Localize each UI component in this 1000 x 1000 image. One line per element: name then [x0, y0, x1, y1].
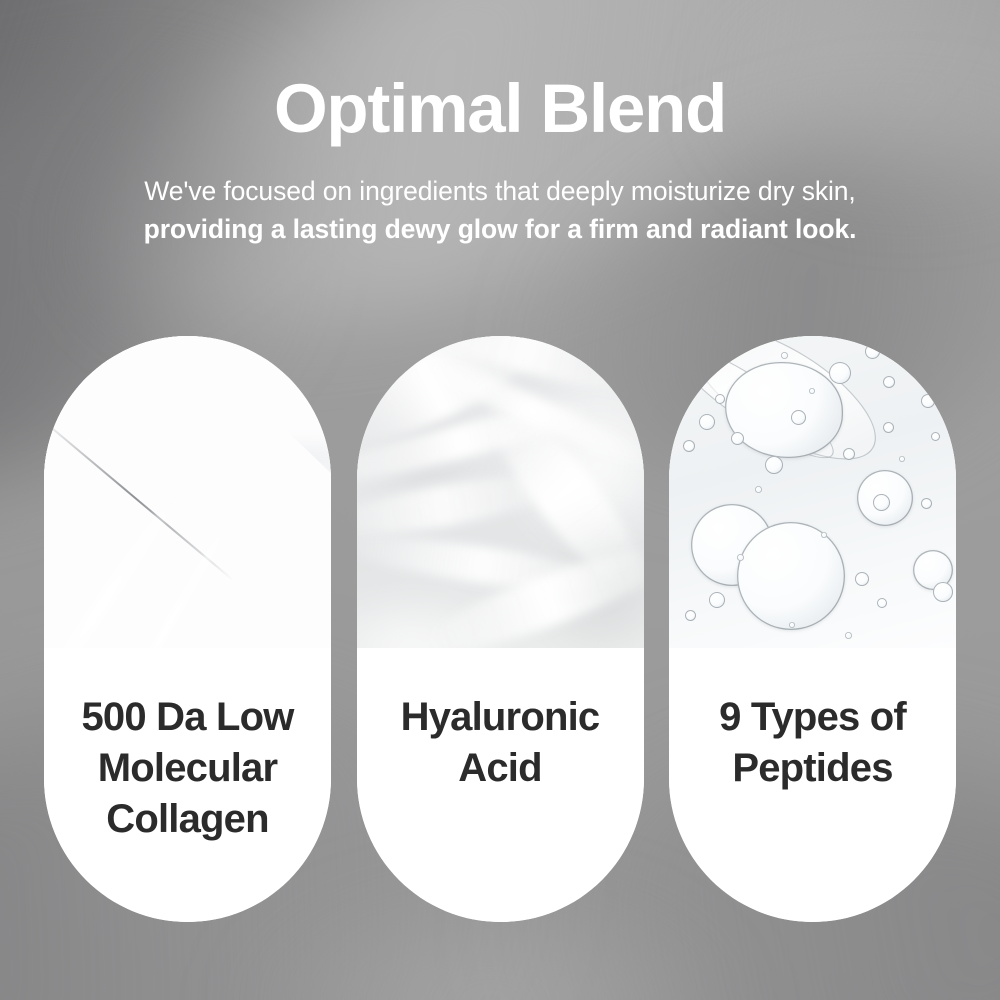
serum-bubble-sm-2 — [865, 344, 880, 359]
serum-bubble-sm-12 — [765, 456, 783, 474]
page-title: Optimal Blend — [0, 0, 1000, 143]
satin-texture — [44, 336, 331, 648]
serum-bubble-sm-14 — [843, 448, 855, 460]
serum-bubble-xs-3 — [755, 486, 762, 493]
serum-bubble-texture — [669, 336, 956, 648]
serum-bubble-sm-20 — [685, 610, 696, 621]
card-label-text: Hyaluronic Acid — [357, 692, 644, 794]
serum-bubble-sm-9 — [683, 440, 695, 452]
serum-bubble-sm-8 — [699, 414, 715, 430]
card-label-hyaluronic-acid: Hyaluronic Acid — [357, 648, 644, 922]
ingredient-card-collagen[interactable]: 500 Da Low Molecular Collagen — [44, 336, 331, 922]
serum-bubble-sm-10 — [715, 394, 725, 404]
water-ripple-texture — [357, 336, 644, 648]
serum-bubble-xs-2 — [809, 388, 815, 394]
serum-bubble-sm-15 — [873, 494, 890, 511]
card-label-text: 500 Da Low Molecular Collagen — [44, 692, 331, 844]
promo-graphic: Optimal Blend We've focused on ingredien… — [0, 0, 1000, 1000]
subtitle-line-2: providing a lasting dewy glow for a firm… — [0, 211, 1000, 249]
card-image-collagen — [44, 336, 331, 648]
serum-bubble-xs-5 — [899, 456, 905, 462]
serum-bubble-xs-6 — [737, 554, 744, 561]
serum-bubble-sm-5 — [921, 394, 935, 408]
subtitle-line-1: We've focused on ingredients that deeply… — [0, 173, 1000, 211]
serum-bubble-xs-1 — [781, 352, 788, 359]
card-label-peptides: 9 Types of Peptides — [669, 648, 956, 922]
card-image-peptides — [669, 336, 956, 648]
subtitle: We've focused on ingredients that deeply… — [0, 143, 1000, 248]
ingredient-card-list: 500 Da Low Molecular Collagen — [44, 336, 956, 922]
header-block: Optimal Blend We've focused on ingredien… — [0, 0, 1000, 248]
ingredient-card-peptides[interactable]: 9 Types of Peptides — [669, 336, 956, 922]
serum-bubble-sm-11 — [731, 432, 744, 445]
serum-bubble-sm-18 — [877, 598, 887, 608]
serum-bubble-sm-4 — [907, 358, 917, 368]
serum-bubble-sm-17 — [855, 572, 869, 586]
card-label-text: 9 Types of Peptides — [669, 692, 956, 794]
serum-bubble-sm-13 — [791, 410, 806, 425]
serum-bubble-xs-7 — [789, 622, 795, 628]
serum-bubble-sm-1 — [829, 362, 851, 384]
card-image-hyaluronic-acid — [357, 336, 644, 648]
serum-bubble-sm-19 — [709, 592, 725, 608]
serum-bubble-xs-4 — [821, 532, 827, 538]
serum-bubble-xs-8 — [845, 632, 852, 639]
serum-bubble-sm-21 — [933, 582, 953, 602]
serum-bubble-large-3 — [725, 362, 843, 458]
ingredient-card-hyaluronic-acid[interactable]: Hyaluronic Acid — [357, 336, 644, 922]
serum-bubble-sm-6 — [883, 422, 894, 433]
serum-bubble-sm-7 — [931, 432, 940, 441]
serum-bubble-large-2 — [737, 522, 845, 630]
serum-bubble-sm-16 — [921, 498, 932, 509]
serum-bubble-sm-3 — [883, 376, 895, 388]
card-label-collagen: 500 Da Low Molecular Collagen — [44, 648, 331, 922]
